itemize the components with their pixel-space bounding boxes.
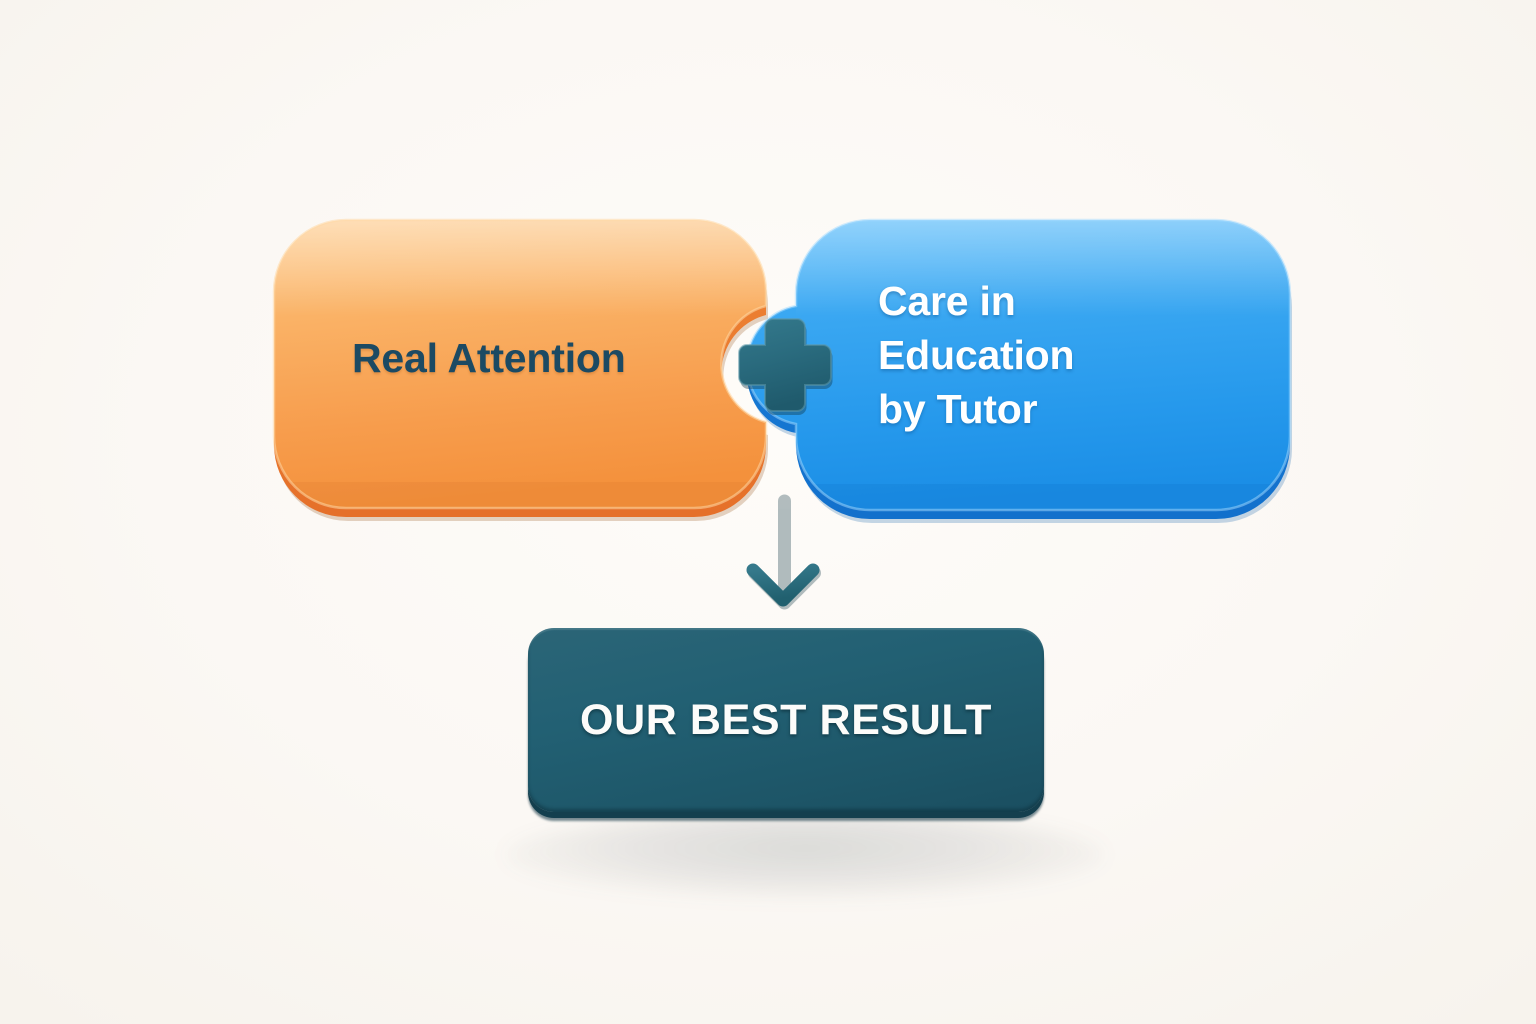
plus-icon (736, 316, 834, 414)
card-care-in-education[interactable]: Care in Education by Tutor (796, 220, 1290, 510)
card-our-best-result-label: OUR BEST RESULT (580, 696, 992, 745)
card-our-best-result[interactable]: OUR BEST RESULT (528, 628, 1044, 812)
card-real-attention[interactable]: Real Attention (274, 220, 766, 508)
diagram-canvas: Real Attention (0, 0, 1536, 1024)
arrow-down-icon (742, 492, 826, 614)
orange-card-gloss (274, 220, 766, 316)
blue-card-gloss (796, 220, 1290, 316)
result-card-ground-shadow (505, 812, 1105, 898)
